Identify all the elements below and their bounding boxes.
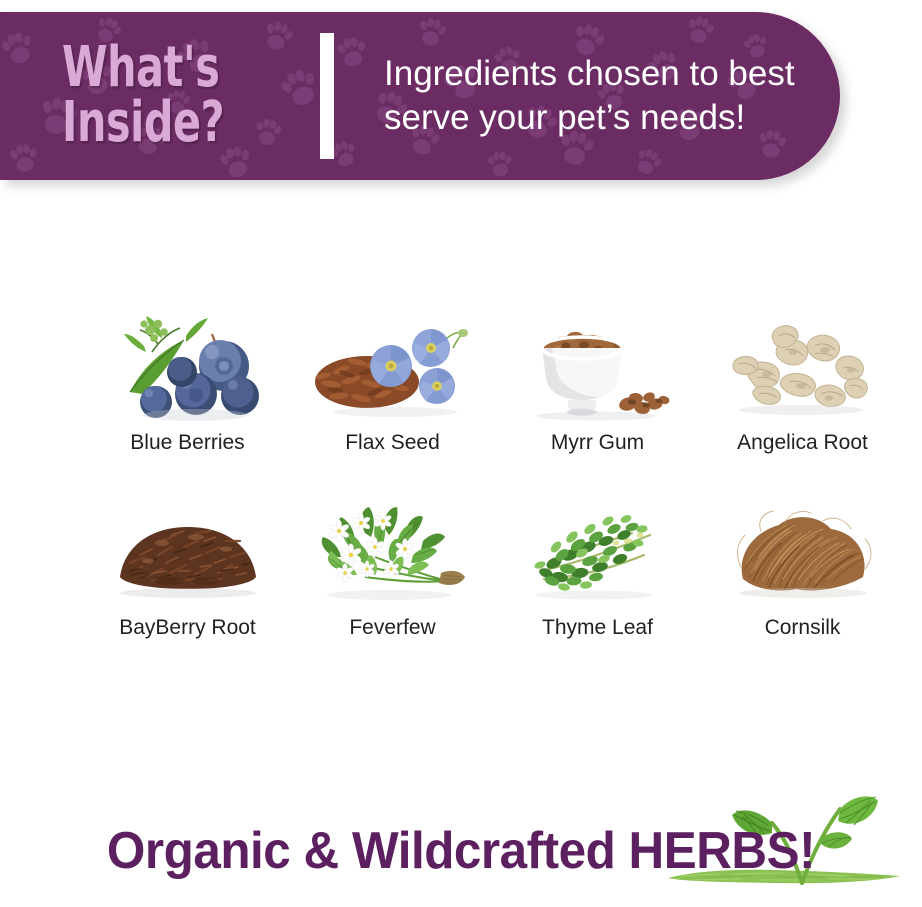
blueberries-image (100, 300, 275, 425)
ingredient-item-blue-berries: Blue Berries (85, 300, 290, 485)
ingredient-label: BayBerry Root (119, 616, 256, 639)
ingredient-label: Flax Seed (345, 431, 440, 454)
ingredient-grid: Blue Berries (85, 300, 922, 670)
ingredient-label: Myrr Gum (551, 431, 644, 454)
ingredient-item-thyme-leaf: Thyme Leaf (495, 485, 700, 670)
footer-headline: Organic & Wildcrafted HERBS! (107, 821, 815, 881)
page-title: What's Inside? (62, 41, 267, 151)
ingredient-label: Cornsilk (765, 616, 841, 639)
bayberry-root-image (100, 485, 275, 610)
ingredient-label: Blue Berries (130, 431, 244, 454)
thyme-leaf-image (510, 485, 685, 610)
ingredient-item-cornsilk: Cornsilk (700, 485, 905, 670)
feverfew-image (305, 485, 480, 610)
ingredient-item-myrr-gum: Myrr Gum (495, 300, 700, 485)
ingredient-item-flax-seed: Flax Seed (290, 300, 495, 485)
cornsilk-image (715, 485, 890, 610)
header-tagline: Ingredients chosen to best serve your pe… (384, 52, 795, 140)
ingredient-label: Angelica Root (737, 431, 868, 454)
footer-banner: Organic & Wildcrafted HERBS! (0, 795, 922, 895)
header-divider (320, 33, 334, 159)
ingredient-item-feverfew: Feverfew (290, 485, 495, 670)
ingredient-label: Feverfew (349, 616, 435, 639)
ingredient-item-bayberry-root: BayBerry Root (85, 485, 290, 670)
ingredient-label: Thyme Leaf (542, 616, 653, 639)
flax-seed-image (305, 300, 480, 425)
ingredient-item-angelica-root: Angelica Root (700, 300, 905, 485)
header-banner: What's Inside? Ingredients chosen to bes… (0, 12, 840, 180)
angelica-root-image (715, 300, 890, 425)
myrr-gum-image (510, 300, 685, 425)
